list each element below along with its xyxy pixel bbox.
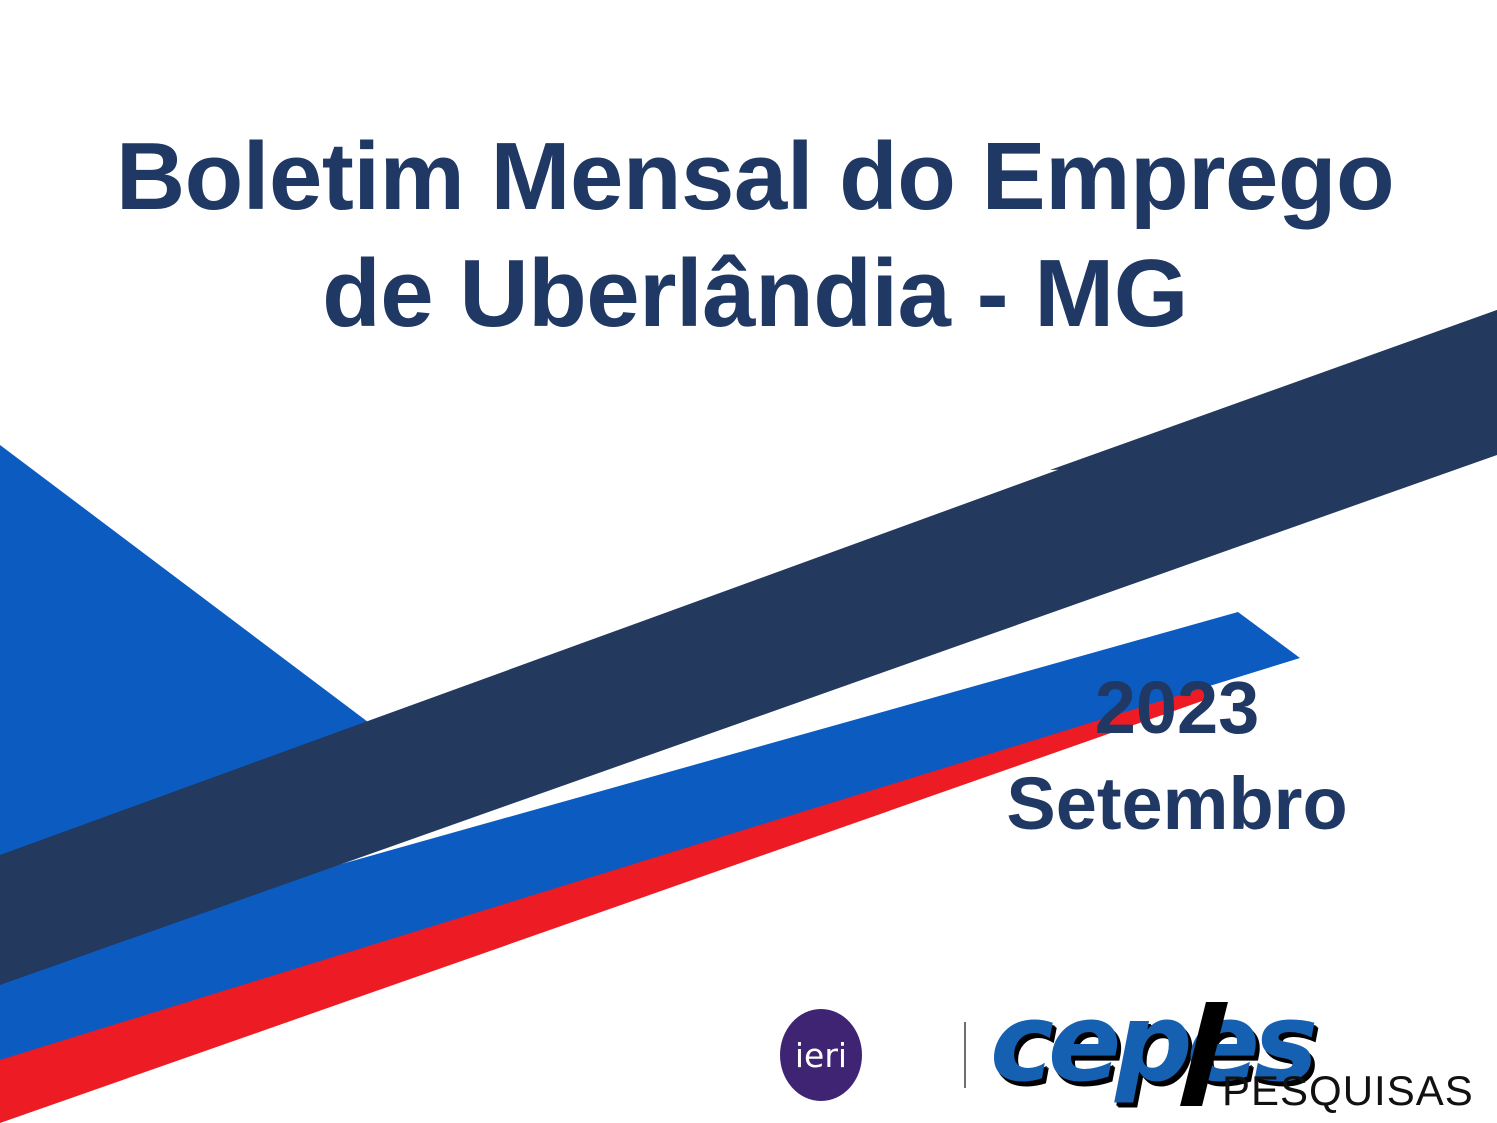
ieri-logo-text: ieri [795, 1039, 847, 1072]
page-title: Boletim Mensal do Emprego de Uberlândia … [90, 118, 1420, 352]
logo-strip: ieri cepes PESQUISAS [780, 995, 1460, 1115]
cover-date-year: 2023 [917, 660, 1437, 756]
cover-date-month: Setembro [917, 756, 1437, 852]
navy-diagonal-band-shape [0, 310, 1497, 985]
cepes-logo-subtitle: PESQUISAS [1222, 1070, 1474, 1112]
report-cover-page: Boletim Mensal do Emprego de Uberlândia … [0, 0, 1497, 1123]
cover-date: 2023 Setembro [917, 660, 1437, 852]
cepes-logo: cepes PESQUISAS [990, 996, 1460, 1114]
ieri-logo: ieri [780, 1009, 862, 1101]
cover-title-text: Boletim Mensal do Emprego de Uberlândia … [90, 118, 1420, 352]
logo-divider [964, 1022, 966, 1088]
blue-triangle-left-shape [0, 445, 368, 1123]
